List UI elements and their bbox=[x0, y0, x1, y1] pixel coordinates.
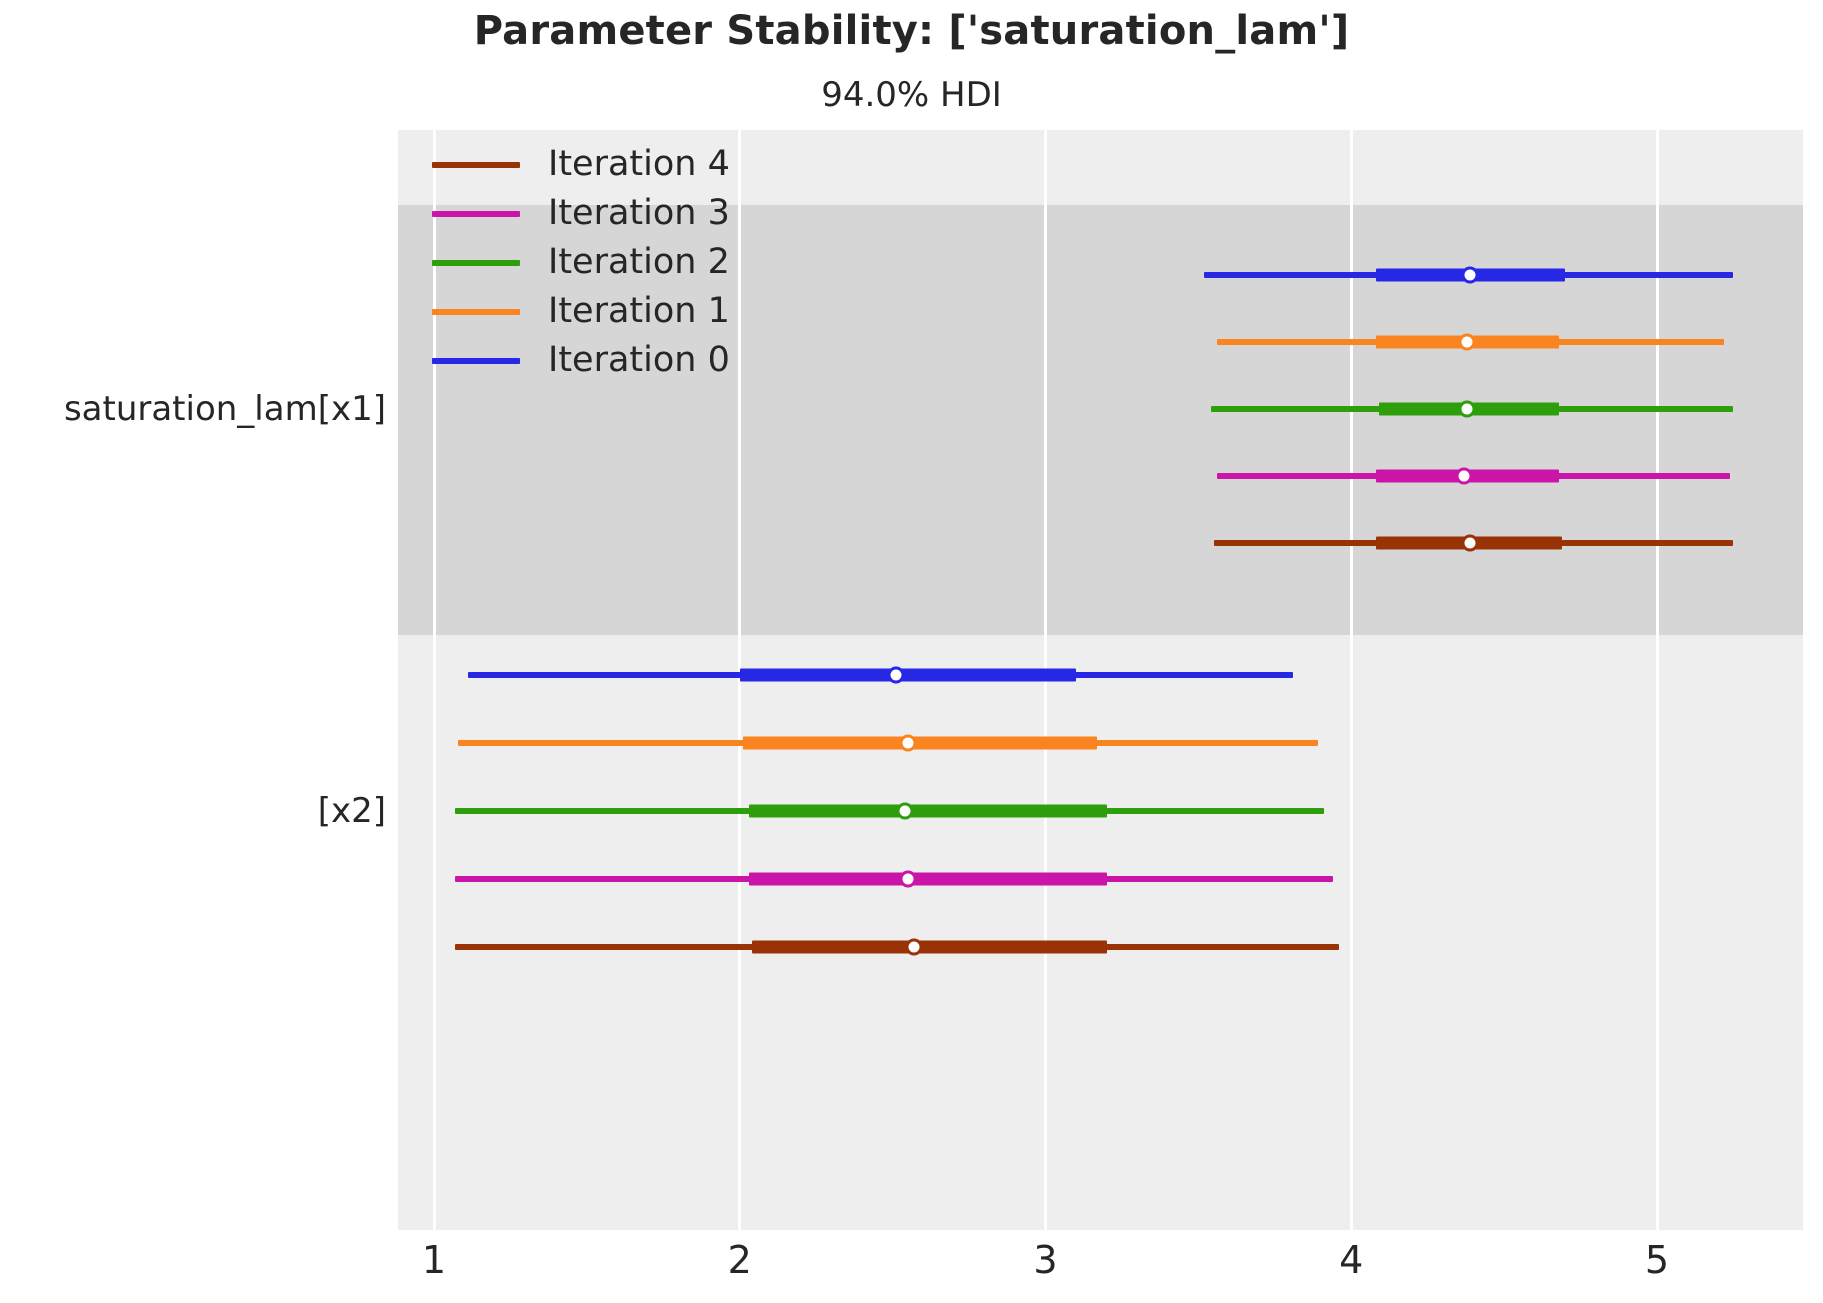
legend-item-label: Iteration 0 bbox=[548, 343, 730, 378]
x-tick-label: 5 bbox=[1597, 1238, 1717, 1282]
chart-title: Parameter Stability: ['saturation_lam'] bbox=[0, 8, 1823, 54]
chart-subtitle: 94.0% HDI bbox=[0, 75, 1823, 115]
forest-plot-figure: Parameter Stability: ['saturation_lam'] … bbox=[0, 0, 1823, 1303]
hdi-interval-row[interactable] bbox=[398, 461, 1803, 491]
point-estimate-marker bbox=[887, 667, 904, 684]
point-estimate-marker bbox=[1459, 401, 1476, 418]
legend-color-swatch bbox=[432, 309, 520, 315]
point-estimate-marker bbox=[1462, 535, 1479, 552]
x-tick-label: 3 bbox=[986, 1238, 1106, 1282]
point-estimate-marker bbox=[1462, 267, 1479, 284]
legend-item[interactable]: Iteration 3 bbox=[432, 189, 730, 238]
hdi-interval-row[interactable] bbox=[398, 932, 1803, 962]
hdi-interval-row[interactable] bbox=[398, 796, 1803, 826]
point-estimate-marker bbox=[1459, 334, 1476, 351]
legend-color-swatch bbox=[432, 260, 520, 266]
iqr-line bbox=[743, 737, 1098, 750]
legend-color-swatch bbox=[432, 211, 520, 217]
point-estimate-marker bbox=[906, 939, 923, 956]
x-tick-label: 1 bbox=[374, 1238, 494, 1282]
legend-item[interactable]: Iteration 0 bbox=[432, 336, 730, 385]
point-estimate-marker bbox=[899, 735, 916, 752]
hdi-interval-row[interactable] bbox=[398, 864, 1803, 894]
hdi-interval-row[interactable] bbox=[398, 660, 1803, 690]
legend-color-swatch bbox=[432, 358, 520, 364]
legend-color-swatch bbox=[432, 162, 520, 168]
legend: Iteration 4Iteration 3Iteration 2Iterati… bbox=[432, 140, 730, 385]
legend-item-label: Iteration 2 bbox=[548, 245, 730, 280]
x-tick-label: 4 bbox=[1291, 1238, 1411, 1282]
iqr-line bbox=[740, 669, 1076, 682]
point-estimate-marker bbox=[899, 871, 916, 888]
legend-item-label: Iteration 3 bbox=[548, 196, 730, 231]
y-tick-label: saturation_lam[x1] bbox=[64, 389, 386, 429]
legend-item-label: Iteration 1 bbox=[548, 294, 730, 329]
hdi-interval-row[interactable] bbox=[398, 728, 1803, 758]
legend-item[interactable]: Iteration 1 bbox=[432, 287, 730, 336]
hdi-interval-row[interactable] bbox=[398, 528, 1803, 558]
legend-item[interactable]: Iteration 2 bbox=[432, 238, 730, 287]
iqr-line bbox=[749, 873, 1107, 886]
iqr-line bbox=[752, 941, 1107, 954]
y-tick-label: [x2] bbox=[318, 791, 386, 831]
hdi-interval-row[interactable] bbox=[398, 394, 1803, 424]
iqr-line bbox=[749, 805, 1107, 818]
point-estimate-marker bbox=[896, 803, 913, 820]
point-estimate-marker bbox=[1456, 468, 1473, 485]
x-tick-label: 2 bbox=[680, 1238, 800, 1282]
legend-item-label: Iteration 4 bbox=[548, 147, 730, 182]
legend-item[interactable]: Iteration 4 bbox=[432, 140, 730, 189]
